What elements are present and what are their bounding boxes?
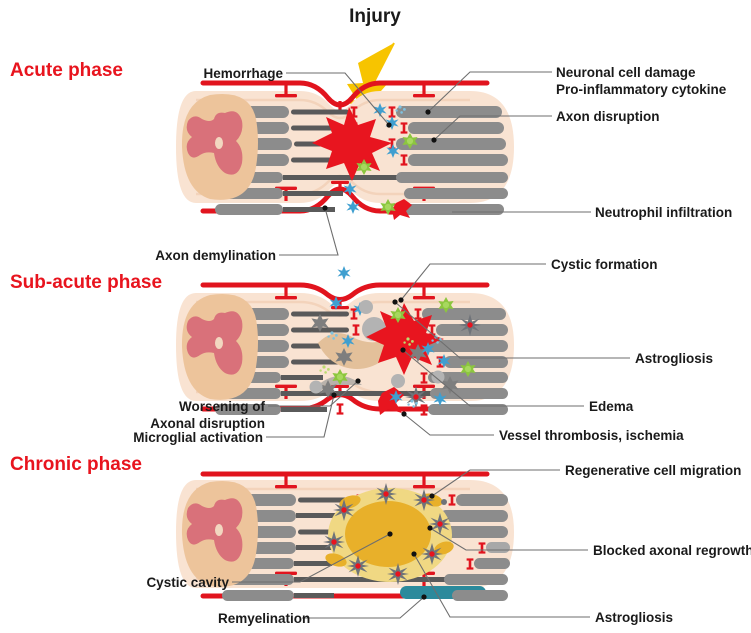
cord-cross-section [182,481,258,587]
phase-heading-subacute: Sub-acute phase [10,272,162,293]
label-remyelination: Remyelination [218,611,310,626]
injury-title: Injury [349,6,401,27]
label-axon-disruption: Axon disruption [556,109,660,124]
label-cystic-formation: Cystic formation [551,257,658,272]
phase-heading-acute: Acute phase [10,60,123,81]
label-pro-inflammatory-cytokine: Pro-inflammatory cytokine [556,82,727,97]
spinal-cord-illustration: Injury Acute phase Sub-acute phase Chron… [0,0,751,633]
label-blocked-axonal-regrowth: Blocked axonal regrowth [593,543,751,558]
label-microglial-activation: Microglial activation [133,430,263,445]
phase-heading-chronic: Chronic phase [10,454,142,475]
label-axon-demyelination: Axon demylination [155,248,276,263]
label-edema: Edema [589,399,634,414]
label-axonal-disruption: Axonal disruption [150,416,265,431]
diagram-canvas: Injury Acute phase Sub-acute phase Chron… [0,0,751,633]
label-neutrophil-infiltration: Neutrophil infiltration [595,205,732,220]
cord-cross-section [182,94,258,200]
label-astrogliosis-subacute: Astrogliosis [635,351,713,366]
label-neuronal-cell-damage: Neuronal cell damage [556,65,696,80]
label-cystic-cavity: Cystic cavity [146,575,229,590]
label-vessel-thrombosis-ischemia: Vessel thrombosis, ischemia [499,428,684,443]
label-hemorrhage: Hemorrhage [203,66,283,81]
cord-cross-section [182,294,258,400]
label-worsening-of: Worsening of [179,399,266,414]
label-regenerative-cell-migration: Regenerative cell migration [565,463,741,478]
neutrophil-cell [337,266,350,280]
subacute-phase-illustration [176,285,514,416]
label-astrogliosis-chronic: Astrogliosis [595,610,673,625]
